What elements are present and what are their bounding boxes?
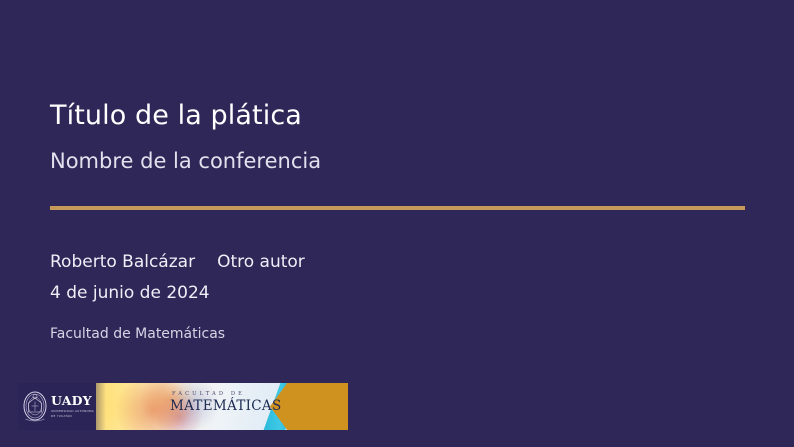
title-block: Título de la plática Nombre de la confer… — [50, 100, 750, 174]
slide-subtitle: Nombre de la conferencia — [50, 131, 750, 174]
faculty-lockup: FACULTAD DE MATEMÁTICAS — [170, 392, 282, 414]
author-row: Roberto Balcázar Otro autor — [50, 252, 750, 272]
uady-wordmark: UADY UNIVERSIDAD AUTÓNOMA DE YUCATÁN — [48, 395, 96, 417]
institute-name: Facultad de Matemáticas — [50, 304, 750, 343]
uady-seal-icon — [22, 390, 48, 424]
logo-banner: FACULTAD DE MATEMÁTICAS UADY UNIVERSIDAD… — [18, 383, 348, 430]
talk-date: 4 de junio de 2024 — [50, 272, 750, 303]
gold-divider — [50, 206, 745, 210]
uady-subtitle-text: UNIVERSIDAD AUTÓNOMA DE YUCATÁN — [51, 408, 96, 418]
author-name-secondary: Otro autor — [217, 252, 305, 272]
uady-name-text: UADY — [51, 395, 96, 408]
uady-lockup: UADY UNIVERSIDAD AUTÓNOMA DE YUCATÁN — [18, 383, 96, 430]
author-name-primary: Roberto Balcázar — [50, 252, 195, 272]
author-meta-block: Roberto Balcázar Otro autor 4 de junio d… — [50, 252, 750, 343]
page-title: Título de la plática — [50, 100, 750, 131]
title-slide: Título de la plática Nombre de la confer… — [0, 0, 794, 447]
faculty-name-text: MATEMÁTICAS — [170, 397, 282, 414]
